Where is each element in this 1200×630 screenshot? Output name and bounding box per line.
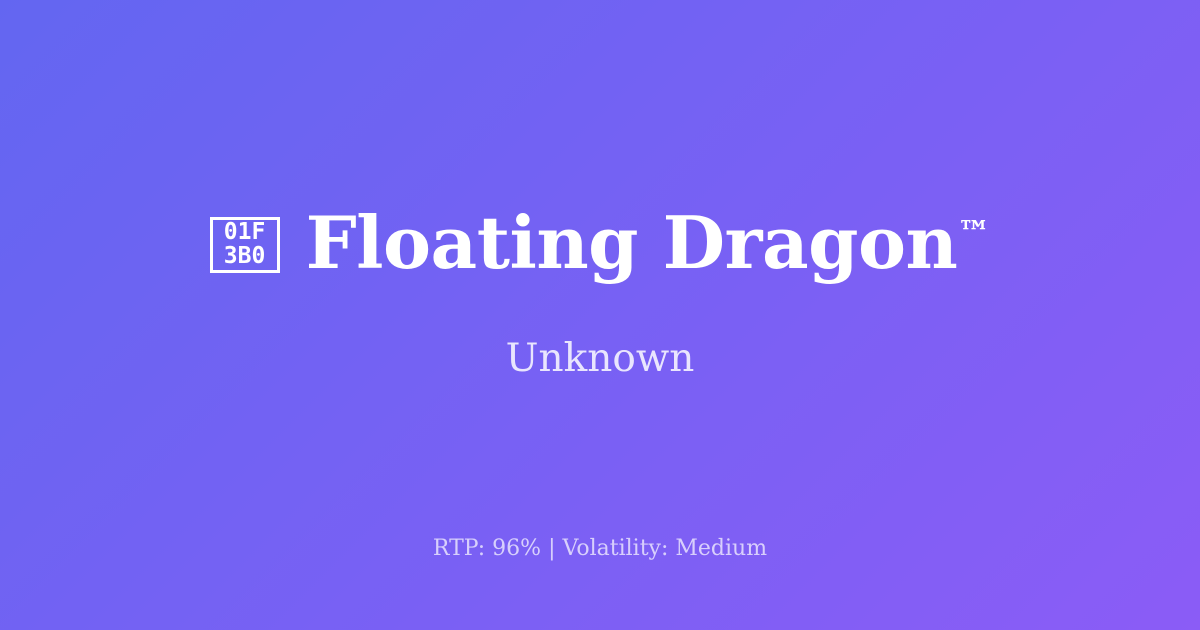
page-title: Floating Dragon™: [306, 205, 991, 281]
slot-machine-icon: 01F 3B0: [210, 217, 280, 273]
trademark-symbol: ™: [957, 213, 990, 252]
stats-separator: |: [541, 536, 562, 561]
codepoint-top: 01F: [224, 221, 266, 244]
game-provider-subtitle: Unknown: [506, 336, 695, 383]
game-title-text: Floating Dragon: [306, 200, 958, 285]
codepoint-bottom: 3B0: [224, 245, 266, 268]
rtp-value: RTP: 96%: [433, 536, 541, 561]
game-stats-line: RTP: 96%|Volatility: Medium: [0, 535, 1200, 564]
og-preview-card: 01F 3B0 Floating Dragon™ Unknown RTP: 96…: [0, 0, 1200, 630]
volatility-value: Volatility: Medium: [563, 536, 768, 561]
game-title-row: 01F 3B0 Floating Dragon™: [210, 205, 991, 281]
